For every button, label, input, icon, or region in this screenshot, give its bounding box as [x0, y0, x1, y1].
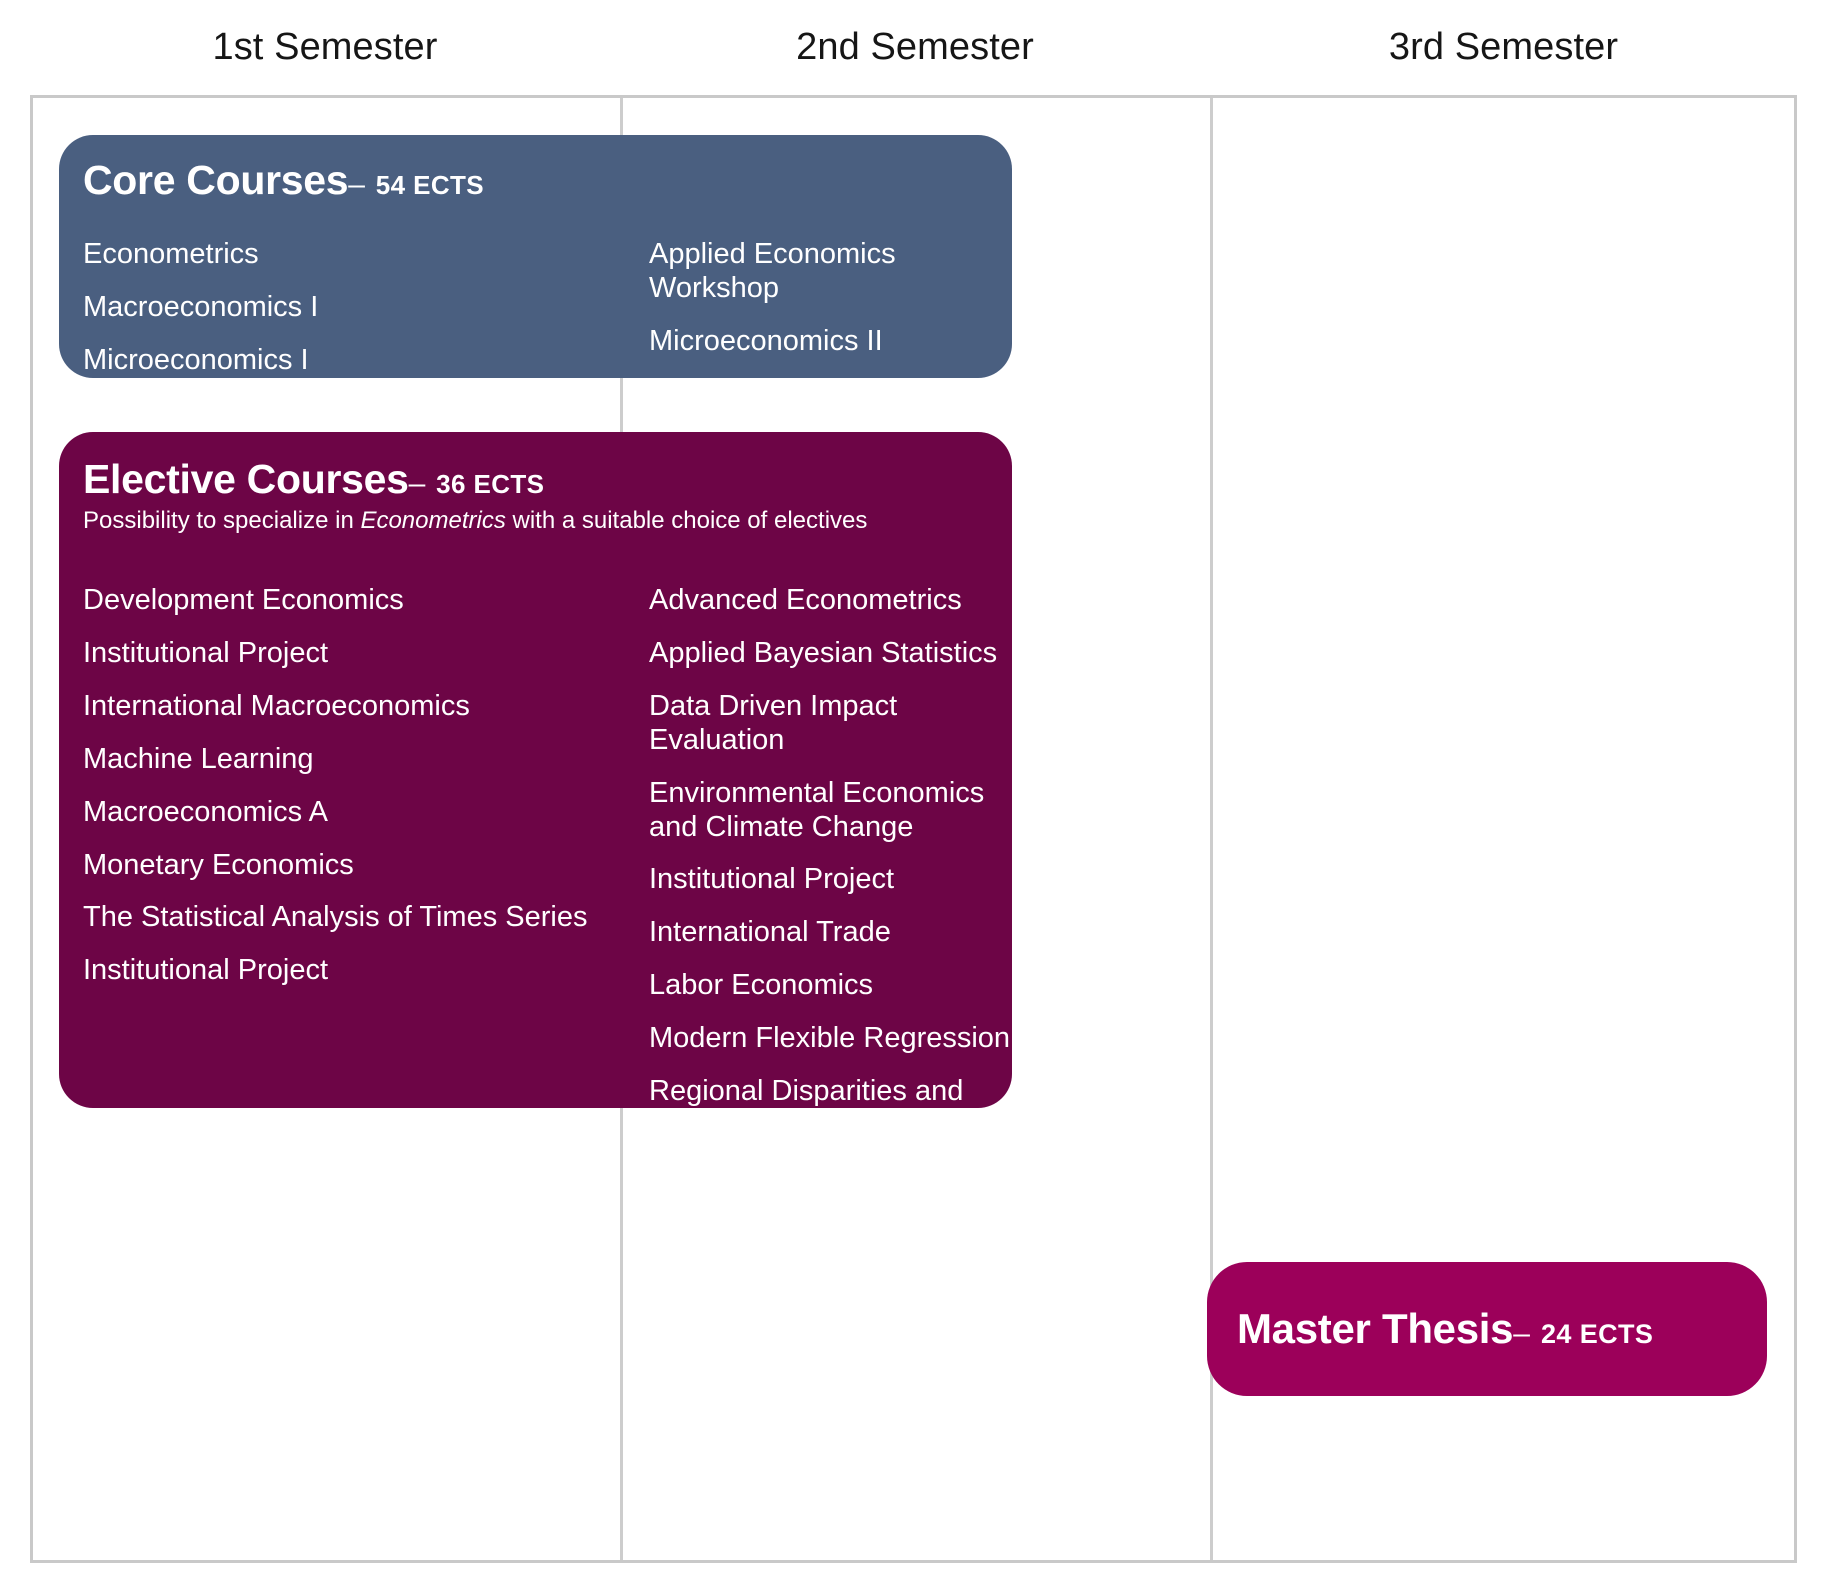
elective-courses-lists: Development Economics Institutional Proj…: [59, 584, 1012, 1196]
course-item: International Macroeconomics: [83, 690, 627, 724]
course-item: Data Driven Impact Evaluation: [649, 690, 1012, 758]
course-item: Microeconomics I: [83, 344, 627, 378]
master-thesis-title-text: Master Thesis: [1237, 1305, 1513, 1352]
course-item: Macroeconomics A: [83, 796, 627, 830]
course-item: Macroeconomics I: [83, 291, 627, 325]
course-item: Environmental Economics and Climate Chan…: [649, 777, 1012, 845]
elective-subtitle-before: Possibility to specialize in: [83, 507, 360, 534]
core-courses-semester1-list: Econometrics Macroeconomics I Microecono…: [59, 238, 627, 378]
core-courses-title: Core Courses– 54 ECTS: [59, 157, 1012, 204]
core-courses-dash: –: [348, 168, 364, 201]
elective-courses-title-text: Elective Courses: [83, 456, 409, 502]
elective-courses-card: Elective Courses– 36 ECTS Possibility to…: [59, 432, 1012, 1108]
elective-subtitle-emphasis: Econometrics: [360, 507, 505, 534]
master-thesis-ects: 24 ECTS: [1541, 1319, 1653, 1349]
elective-courses-title: Elective Courses– 36 ECTS: [59, 456, 1012, 503]
core-courses-semester2-list: Applied Economics Workshop Microeconomic…: [627, 238, 1012, 378]
course-item: Institutional Project: [649, 863, 1012, 897]
semester-header-2: 2nd Semester: [620, 0, 1210, 95]
elective-courses-semester2-list: Advanced Econometrics Applied Bayesian S…: [627, 584, 1012, 1196]
elective-subtitle-after: with a suitable choice of electives: [506, 507, 868, 534]
elective-courses-semester1-list: Development Economics Institutional Proj…: [59, 584, 627, 1196]
core-courses-ects: 54 ECTS: [376, 170, 484, 200]
course-item: Institutional Project: [83, 637, 627, 671]
elective-courses-ects: 36 ECTS: [436, 469, 544, 499]
course-item: Advanced Econometrics: [649, 584, 1012, 618]
core-courses-lists: Econometrics Macroeconomics I Microecono…: [59, 238, 1012, 378]
master-thesis-title: Master Thesis– 24 ECTS: [1207, 1305, 1653, 1353]
semester-header-1: 1st Semester: [30, 0, 620, 95]
core-courses-card: Core Courses– 54 ECTS Econometrics Macro…: [59, 135, 1012, 378]
course-item: Applied Bayesian Statistics: [649, 637, 1012, 671]
course-item: Institutional Project: [649, 1162, 1012, 1196]
course-item: Regional Disparities and Urban Economics: [649, 1075, 1012, 1143]
master-thesis-dash: –: [1513, 1317, 1529, 1350]
course-item: Institutional Project: [83, 954, 627, 988]
course-item: International Trade: [649, 916, 1012, 950]
course-item: Applied Economics Workshop: [649, 238, 1012, 306]
elective-courses-dash: –: [409, 467, 425, 500]
master-thesis-card: Master Thesis– 24 ECTS: [1207, 1262, 1767, 1396]
curriculum-diagram: 1st Semester 2nd Semester 3rd Semester C…: [0, 0, 1831, 1596]
course-item: The Statistical Analysis of Times Series: [83, 901, 627, 935]
course-item: Machine Learning: [83, 743, 627, 777]
core-courses-title-text: Core Courses: [83, 157, 348, 203]
elective-courses-subtitle: Possibility to specialize in Econometric…: [59, 507, 1012, 536]
course-item: Labor Economics: [649, 969, 1012, 1003]
course-item: Development Economics: [83, 584, 627, 618]
course-item: Modern Flexible Regression: [649, 1022, 1012, 1056]
semester-headers: 1st Semester 2nd Semester 3rd Semester: [30, 0, 1797, 95]
semester-header-3: 3rd Semester: [1210, 0, 1797, 95]
course-item: Microeconomics II: [649, 325, 1012, 359]
course-item: Econometrics: [83, 238, 627, 272]
course-item: Monetary Economics: [83, 849, 627, 883]
